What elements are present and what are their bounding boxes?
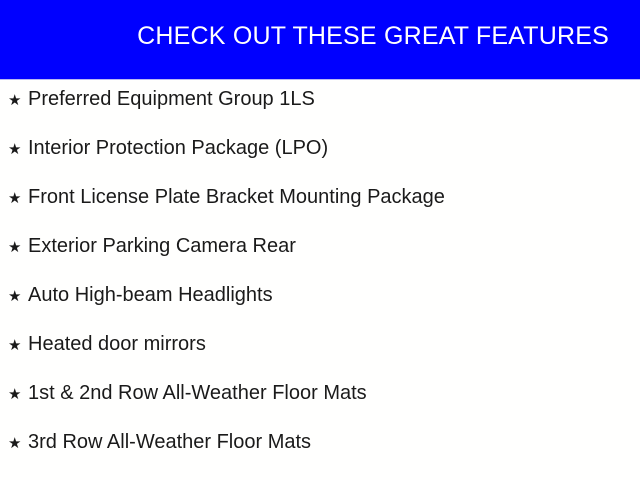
star-icon: ★ — [8, 381, 28, 407]
list-item: ★ Heated door mirrors — [0, 331, 640, 380]
feature-label: Exterior Parking Camera Rear — [28, 233, 296, 259]
star-icon: ★ — [8, 185, 28, 211]
star-icon: ★ — [8, 87, 28, 113]
features-page: CHECK OUT THESE GREAT FEATURES ★ Preferr… — [0, 0, 640, 480]
list-item: ★ Exterior Parking Camera Rear — [0, 233, 640, 282]
list-item: ★ Preferred Equipment Group 1LS — [0, 86, 640, 135]
list-item: ★ 1st & 2nd Row All-Weather Floor Mats — [0, 380, 640, 429]
star-icon: ★ — [8, 430, 28, 456]
feature-label: Preferred Equipment Group 1LS — [28, 86, 315, 112]
banner-title: CHECK OUT THESE GREAT FEATURES — [137, 21, 609, 51]
feature-label: 3rd Row All-Weather Floor Mats — [28, 429, 311, 455]
features-banner: CHECK OUT THESE GREAT FEATURES — [0, 0, 640, 79]
list-item: ★ Auto High-beam Headlights — [0, 282, 640, 331]
features-list: ★ Preferred Equipment Group 1LS ★ Interi… — [0, 79, 640, 478]
feature-label: 1st & 2nd Row All-Weather Floor Mats — [28, 380, 367, 406]
list-item: ★ 3rd Row All-Weather Floor Mats — [0, 429, 640, 478]
list-item: ★ Front License Plate Bracket Mounting P… — [0, 184, 640, 233]
feature-label: Front License Plate Bracket Mounting Pac… — [28, 184, 445, 210]
star-icon: ★ — [8, 234, 28, 260]
feature-label: Heated door mirrors — [28, 331, 206, 357]
feature-label: Interior Protection Package (LPO) — [28, 135, 328, 161]
list-item: ★ Interior Protection Package (LPO) — [0, 135, 640, 184]
feature-label: Auto High-beam Headlights — [28, 282, 273, 308]
star-icon: ★ — [8, 283, 28, 309]
star-icon: ★ — [8, 332, 28, 358]
star-icon: ★ — [8, 136, 28, 162]
